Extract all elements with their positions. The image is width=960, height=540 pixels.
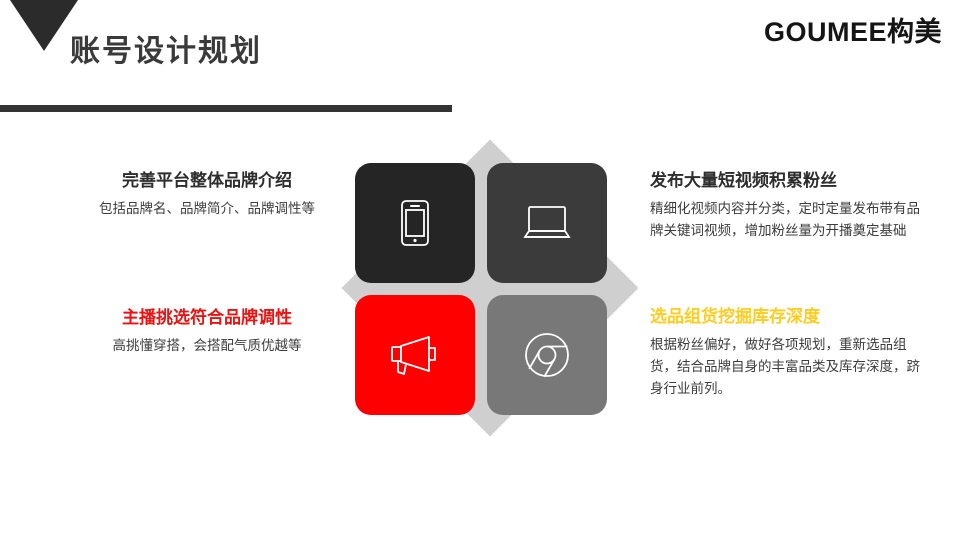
brand-logo: GOUMEE构美 xyxy=(764,10,942,49)
block-bottom-right-title: 选品组货挖掘库存深度 xyxy=(650,306,930,328)
slide-root: 账号设计规划 GOUMEE构美 xyxy=(0,0,960,540)
block-bottom-left-body: 高挑懂穿搭，会搭配气质优越等 xyxy=(62,335,352,357)
triangle-down-icon xyxy=(10,0,78,51)
block-top-left-body: 包括品牌名、品牌简介、品牌调性等 xyxy=(62,198,352,220)
block-top-right-title: 发布大量短视频积累粉丝 xyxy=(650,170,930,192)
tile-chrome[interactable] xyxy=(487,295,607,415)
block-bottom-right: 选品组货挖掘库存深度 根据粉丝偏好，做好各项规划，重新选品组货，结合品牌自身的丰… xyxy=(650,306,930,400)
title-divider xyxy=(0,105,452,112)
tile-phone[interactable] xyxy=(355,163,475,283)
block-top-right-body: 精细化视频内容并分类，定时定量发布带有品牌关键词视频，增加粉丝量为开播奠定基础 xyxy=(650,198,930,242)
chrome-browser-icon xyxy=(522,330,572,380)
mobile-phone-icon xyxy=(400,199,430,247)
block-top-right: 发布大量短视频积累粉丝 精细化视频内容并分类，定时定量发布带有品牌关键词视频，增… xyxy=(650,170,930,242)
laptop-icon xyxy=(521,203,573,243)
megaphone-icon xyxy=(387,332,443,378)
tile-megaphone[interactable] xyxy=(355,295,475,415)
block-bottom-left: 主播挑选符合品牌调性 高挑懂穿搭，会搭配气质优越等 xyxy=(62,307,352,357)
tile-laptop[interactable] xyxy=(487,163,607,283)
block-bottom-left-title: 主播挑选符合品牌调性 xyxy=(62,307,352,329)
block-bottom-right-body: 根据粉丝偏好，做好各项规划，重新选品组货，结合品牌自身的丰富品类及库存深度，跻身… xyxy=(650,334,930,400)
tile-grid xyxy=(355,163,607,415)
page-title: 账号设计规划 xyxy=(70,26,262,70)
center-graphic xyxy=(340,130,640,446)
block-top-left: 完善平台整体品牌介绍 包括品牌名、品牌简介、品牌调性等 xyxy=(62,170,352,220)
block-top-left-title: 完善平台整体品牌介绍 xyxy=(62,170,352,192)
